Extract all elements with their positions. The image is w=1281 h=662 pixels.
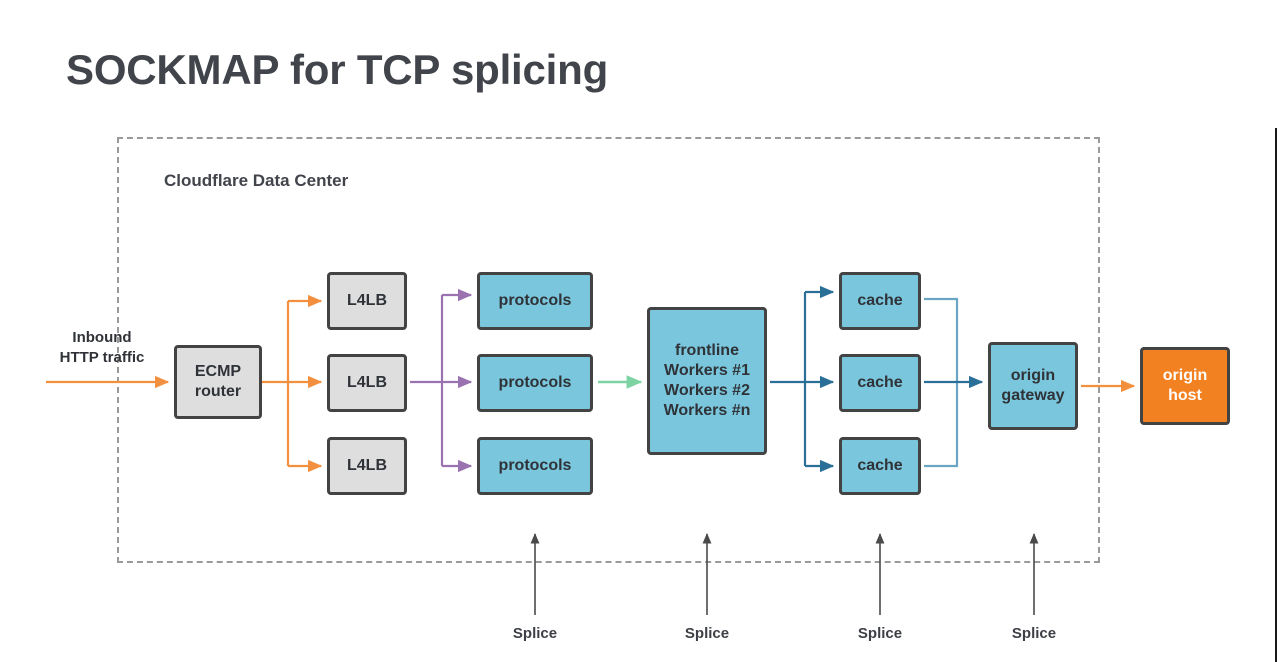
node-origin-gateway[interactable]: origin gateway: [988, 342, 1078, 430]
node-cache-1[interactable]: cache: [839, 272, 921, 330]
node-frontline-workers[interactable]: frontline Workers #1 Workers #2 Workers …: [647, 307, 767, 455]
node-origin-host[interactable]: origin host: [1140, 347, 1230, 425]
data-center-boundary: [117, 137, 1100, 563]
data-center-label: Cloudflare Data Center: [164, 171, 348, 191]
node-protocols-2[interactable]: protocols: [477, 354, 593, 412]
node-cache-2[interactable]: cache: [839, 354, 921, 412]
node-protocols-3[interactable]: protocols: [477, 437, 593, 495]
node-protocols-1[interactable]: protocols: [477, 272, 593, 330]
node-l4lb-2[interactable]: L4LB: [327, 354, 407, 412]
node-ecmp-router[interactable]: ECMP router: [174, 345, 262, 419]
splice-label: Splice: [974, 625, 1094, 642]
slide-canvas: SOCKMAP for TCP splicing Cloudflare Data…: [0, 0, 1281, 662]
splice-label: Splice: [475, 625, 595, 642]
splice-label: Splice: [647, 625, 767, 642]
splice-label: Splice: [820, 625, 940, 642]
slide-right-edge-rule: [1275, 128, 1277, 662]
node-l4lb-1[interactable]: L4LB: [327, 272, 407, 330]
inbound-traffic-label: Inbound HTTP traffic: [32, 328, 172, 369]
node-l4lb-3[interactable]: L4LB: [327, 437, 407, 495]
node-cache-3[interactable]: cache: [839, 437, 921, 495]
page-title: SOCKMAP for TCP splicing: [66, 46, 608, 94]
